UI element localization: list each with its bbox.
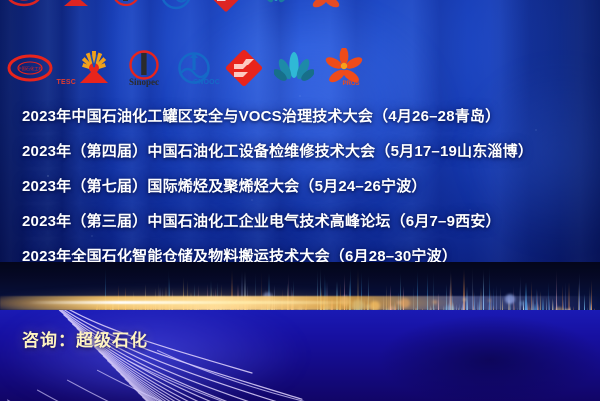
cnooc-logo-label: CNOOC: [193, 79, 220, 86]
sinopec-logo: Sinopec: [124, 48, 164, 88]
cnooc-logo: CNOOC: [174, 48, 214, 88]
cnos-logo: [306, 0, 346, 14]
conference-line-2[interactable]: 2023年（第四届）中国石油化工设备检维修技术大会（5月17–19山东淄博）: [0, 133, 600, 168]
cnooc-tesc-logo: 中国石化工程 TESC: [6, 48, 64, 88]
cnooc-tesc-logo: [6, 0, 46, 14]
contact-text[interactable]: 咨询：超级石化: [22, 326, 148, 351]
conference-line-3[interactable]: 2023年（第七届）国际烯烃及聚烯烃大会（5月24–26宁波）: [0, 168, 600, 203]
cnooc-logo: [156, 0, 196, 14]
conference-banner: 中国石化工程 TESC: [0, 0, 600, 401]
partner-logo-row: 中国石化工程 TESC: [6, 48, 364, 88]
conference-line-4[interactable]: 2023年（第三届）中国石油化工企业电气技术高峰论坛（6月7–9西安）: [0, 203, 600, 238]
wave-floor: [0, 310, 600, 401]
cnos-logo: PROS: [324, 48, 364, 88]
svg-text:Sinopec: Sinopec: [129, 77, 159, 87]
wave-lines: [0, 310, 600, 401]
sinopec-logo: [106, 0, 146, 14]
cnpc-logo: [56, 0, 96, 14]
petro-blue-logo: [274, 48, 314, 88]
shenhua-logo: [206, 0, 246, 14]
svg-text:PROS: PROS: [342, 81, 359, 87]
svg-text:中国石化工程: 中国石化工程: [17, 65, 43, 72]
partner-logo-row-cropped: [6, 0, 346, 14]
horizon-beam-core: [28, 301, 358, 304]
partner-logo-strip: 中国石化工程 TESC: [0, 0, 600, 96]
cnpc-logo: [74, 48, 114, 88]
conference-line-1[interactable]: 2023年中国石油化工罐区安全与VOCS治理技术大会（4月26–28青岛）: [0, 98, 600, 133]
conference-list: 2023年中国石油化工罐区安全与VOCS治理技术大会（4月26–28青岛） 20…: [0, 98, 600, 273]
petro-blue-logo: [256, 0, 296, 14]
shenhua-logo: [224, 48, 264, 88]
